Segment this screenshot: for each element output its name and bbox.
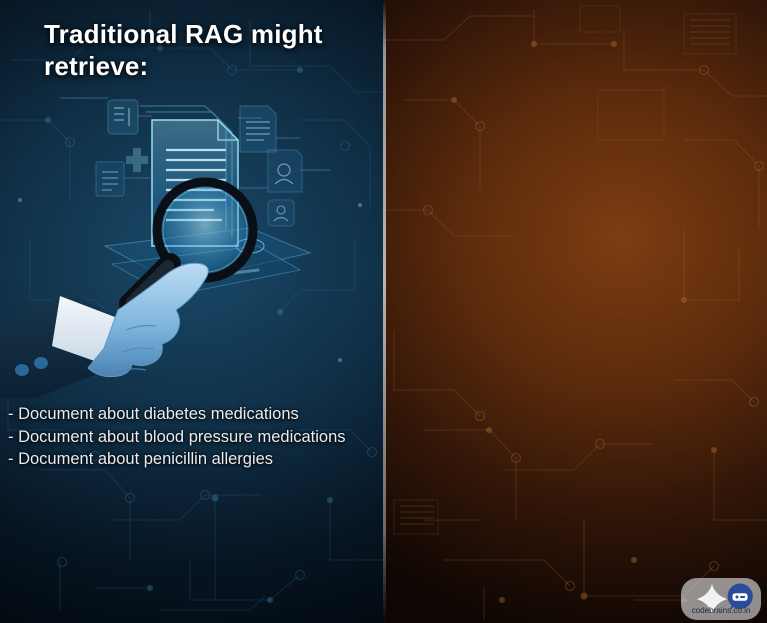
document-icon <box>108 100 138 134</box>
page-title-left: Traditional RAG might retrieve: <box>44 18 364 82</box>
bullet-list-left: - Document about diabetes medications - … <box>8 403 384 471</box>
panel-kag: KAG understands: - Diabetes HAS_CONTRAIN… <box>384 0 767 623</box>
document-icon <box>240 106 276 152</box>
infographic-canvas: Traditional RAG might retrieve: - Docume… <box>0 0 767 623</box>
list-item: - Document about diabetes medications <box>8 403 384 426</box>
list-item: - Document about blood pressure medicati… <box>8 426 384 449</box>
document-icon <box>268 200 294 226</box>
list-item: - Document about penicillin allergies <box>8 448 384 471</box>
document-icon <box>268 150 302 192</box>
watermark-logo[interactable]: codebrains.co.in <box>681 578 761 620</box>
hand-illustration <box>0 263 208 398</box>
circuit-background-right <box>384 0 767 623</box>
document-icon <box>96 162 124 196</box>
panel-divider <box>383 0 386 623</box>
watermark-text: codebrains.co.in <box>681 605 761 615</box>
panel-traditional-rag: Traditional RAG might retrieve: - Docume… <box>0 0 384 623</box>
medical-cross-icon <box>126 148 148 172</box>
illustration-document-search <box>0 78 384 398</box>
